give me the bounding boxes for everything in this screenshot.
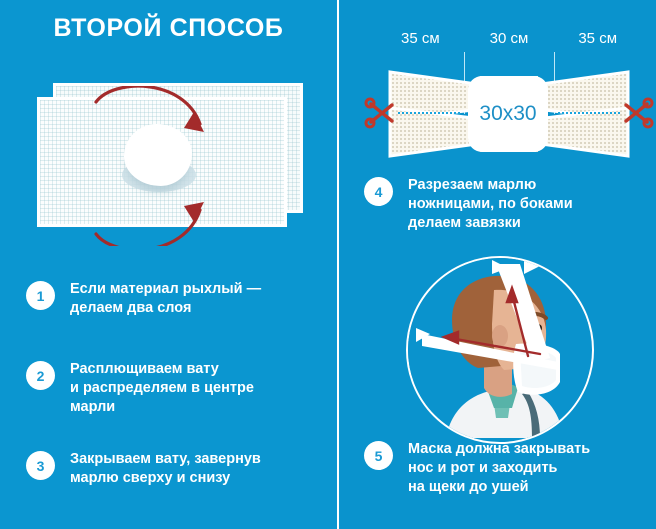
center-size-label: 30x30 bbox=[468, 76, 548, 152]
measure-labels: 35 см 30 см 35 см bbox=[376, 26, 642, 56]
cut-line-left bbox=[398, 112, 460, 114]
gauze-cut-diagram: 35 см 30 см 35 см 30x30 bbox=[376, 26, 642, 166]
infographic-poster: ВТОРОЙ СПОСОБ 1 Если материал рыхлый — д… bbox=[0, 0, 656, 529]
measure-center: 30 см bbox=[465, 26, 554, 56]
measure-left: 35 см bbox=[376, 26, 465, 56]
fold-arrows-icon bbox=[34, 86, 306, 246]
step-1-badge: 1 bbox=[26, 281, 55, 310]
step-2: 2 Расплющиваем вату и распределяем в цен… bbox=[26, 360, 254, 417]
step-5: 5 Маска должна закрывать нос и рот и зах… bbox=[364, 440, 590, 497]
measure-right: 35 см bbox=[553, 26, 642, 56]
step-3-badge: 3 bbox=[26, 451, 55, 480]
step-4-badge: 4 bbox=[364, 177, 393, 206]
gauze-bowtie-shape: 30x30 bbox=[376, 62, 642, 166]
person-mask-illustration bbox=[406, 256, 594, 444]
step-1: 1 Если материал рыхлый — делаем два слоя bbox=[26, 280, 261, 318]
gauze-sheets-illustration bbox=[34, 86, 306, 246]
step-3-text: Закрываем вату, завернув марлю сверху и … bbox=[70, 450, 261, 488]
step-4-text: Разрезаем марлю ножницами, по боками дел… bbox=[408, 176, 573, 233]
step-5-badge: 5 bbox=[364, 441, 393, 470]
person-profile-figure bbox=[408, 258, 588, 438]
page-title: ВТОРОЙ СПОСОБ bbox=[0, 14, 337, 43]
panel-divider bbox=[337, 0, 339, 529]
step-2-badge: 2 bbox=[26, 361, 55, 390]
cut-line-right bbox=[558, 112, 620, 114]
scissors-icon-left bbox=[364, 96, 398, 130]
step-2-text: Расплющиваем вату и распределяем в центр… bbox=[70, 360, 254, 417]
scissors-icon-right bbox=[620, 96, 654, 130]
step-5-text: Маска должна закрывать нос и рот и заход… bbox=[408, 440, 590, 497]
step-4: 4 Разрезаем марлю ножницами, по боками д… bbox=[364, 176, 573, 233]
step-1-text: Если материал рыхлый — делаем два слоя bbox=[70, 280, 261, 318]
step-3: 3 Закрываем вату, завернув марлю сверху … bbox=[26, 450, 261, 488]
